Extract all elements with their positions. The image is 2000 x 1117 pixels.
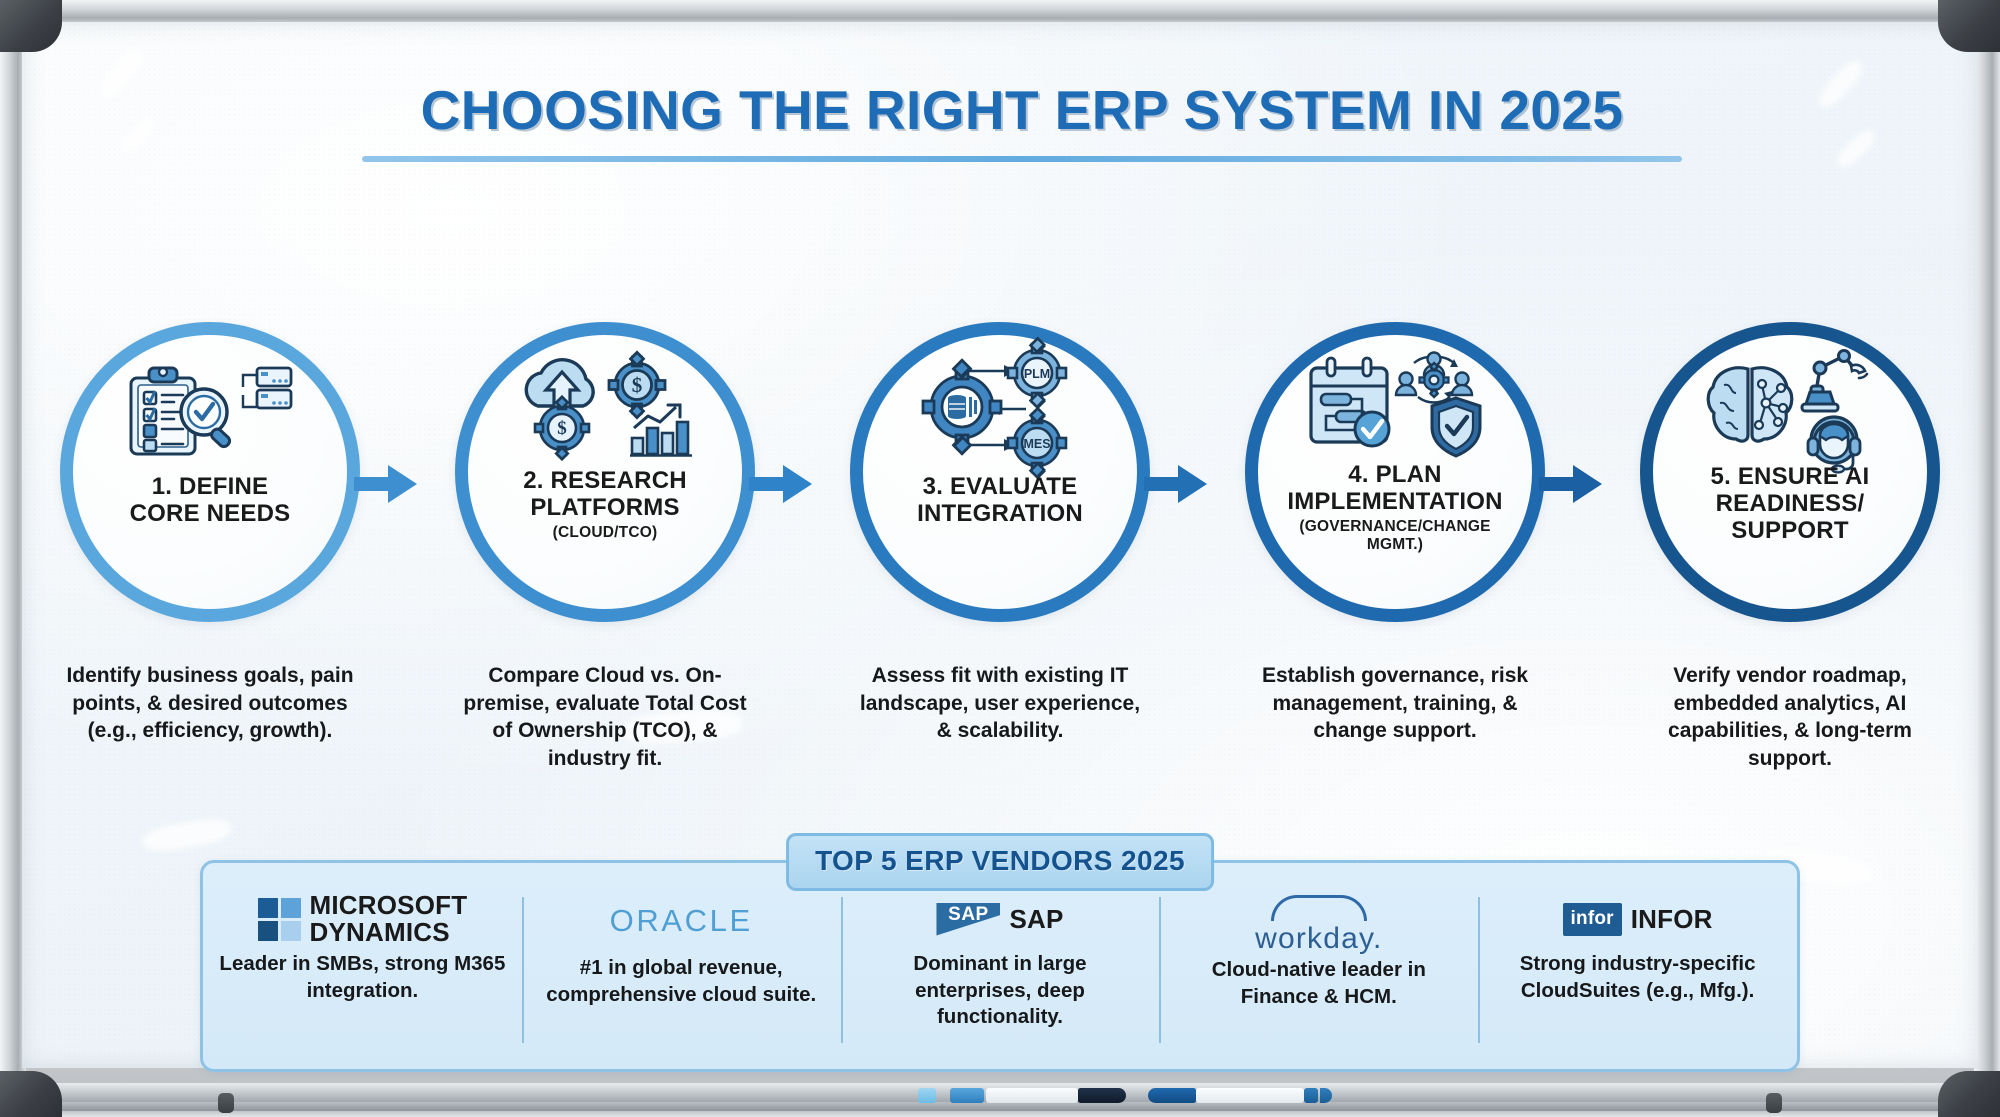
- calendar-workflow-check-icon: [1306, 356, 1398, 456]
- vendor-desc-microsoft: Leader in SMBs, strong M365 integration.: [219, 951, 506, 1004]
- step-3-label-line2: INTEGRATION: [917, 500, 1083, 527]
- vendor-workday[interactable]: workday. Cloud-native leader in Finance …: [1159, 891, 1478, 1063]
- marker-body-white-1[interactable]: [986, 1088, 1078, 1103]
- step-4-sublabel-line1: (GOVERNANCE/CHANGE: [1299, 518, 1490, 535]
- tray-stop-left: [218, 1093, 234, 1113]
- step-4[interactable]: 4. PLAN IMPLEMENTATION (GOVERNANCE/CHANG…: [1245, 322, 1545, 652]
- sap-logo: SAP SAP: [936, 895, 1063, 943]
- step-4-description: Establish governance, risk management, t…: [1245, 662, 1545, 773]
- step-2-circle[interactable]: $: [455, 322, 755, 622]
- marker-navy[interactable]: [1078, 1088, 1126, 1103]
- vendor-desc-workday: Cloud-native leader in Finance & HCM.: [1175, 957, 1462, 1010]
- vendor-name-line2: DYNAMICS: [310, 917, 450, 947]
- magnifier-check-icon: [175, 385, 243, 455]
- step-5-label-line3: SUPPORT: [1731, 517, 1848, 544]
- step-1-description: Identify business goals, pain points, & …: [60, 662, 360, 773]
- vendor-oracle[interactable]: ORACLE #1 in global revenue, comprehensi…: [522, 891, 841, 1063]
- step-5-circle[interactable]: 5. ENSURE AI READINESS/ SUPPORT: [1640, 322, 1940, 622]
- step-4-sublabel-group: (GOVERNANCE/CHANGE MGMT.): [1249, 518, 1541, 554]
- step-1-label: 1. DEFINE CORE NEEDS: [78, 474, 342, 528]
- marker-blue[interactable]: [1148, 1088, 1196, 1103]
- marker-cap-light-blue[interactable]: [918, 1088, 936, 1103]
- arrow-3-to-4: [1144, 464, 1208, 504]
- frame-corner-top-right: [1938, 0, 2000, 52]
- step-4-label-line1: 4. PLAN: [1348, 461, 1441, 488]
- workday-wordmark: workday.: [1255, 922, 1382, 956]
- step-2-sublabel: (CLOUD/TCO): [473, 524, 737, 542]
- step-5[interactable]: 5. ENSURE AI READINESS/ SUPPORT: [1640, 322, 1940, 652]
- microsoft-dynamics-logo: MICROSOFT DYNAMICS: [258, 895, 468, 943]
- vendor-panel-header: TOP 5 ERP VENDORS 2025: [786, 833, 1214, 891]
- step-4-label: 4. PLAN IMPLEMENTATION (GOVERNANCE/CHANG…: [1249, 462, 1541, 553]
- vendor-name-infor: INFOR: [1631, 906, 1713, 933]
- step-4-icon-row: [1245, 346, 1545, 466]
- arrow-1-to-2: [354, 464, 418, 504]
- step-1-label-line1: 1. DEFINE: [152, 473, 269, 500]
- vendor-desc-oracle: #1 in global revenue, comprehensive clou…: [538, 955, 825, 1008]
- integration-gears-group-icon: PLM: [920, 349, 1080, 467]
- step-1-circle[interactable]: 1. DEFINE CORE NEEDS: [60, 322, 360, 622]
- title-block: CHOOSING THE RIGHT ERP SYSTEM IN 2025: [22, 78, 2000, 162]
- workday-arc-icon: [1271, 895, 1367, 921]
- step-2-description: Compare Cloud vs. On-premise, evaluate T…: [455, 662, 755, 773]
- step-5-description: Verify vendor roadmap, embedded analytic…: [1640, 662, 1940, 773]
- ai-brain-icon: [1702, 363, 1798, 449]
- arrow-4-to-5: [1539, 464, 1603, 504]
- step-5-label-line1: 5. ENSURE AI: [1711, 463, 1870, 490]
- steps-row: 1. DEFINE CORE NEEDS: [60, 322, 1940, 652]
- step-3-icon-row: PLM: [850, 348, 1150, 468]
- title-underline: [362, 156, 1682, 162]
- step-1-icon-row: [60, 352, 360, 472]
- step-2-label-line1: 2. RESEARCH: [523, 467, 687, 494]
- svg-text:MES: MES: [1023, 437, 1050, 451]
- frame-corner-bottom-left: [0, 1071, 62, 1117]
- robot-arm-icon: [1802, 351, 1867, 412]
- whiteboard-frame: CHOOSING THE RIGHT ERP SYSTEM IN 2025: [0, 0, 2000, 1117]
- infor-badge-icon: infor: [1563, 903, 1622, 936]
- whiteboard-surface: CHOOSING THE RIGHT ERP SYSTEM IN 2025: [22, 22, 1978, 1068]
- step-5-label: 5. ENSURE AI READINESS/ SUPPORT: [1658, 464, 1922, 545]
- vendor-name-line1: MICROSOFT: [310, 890, 468, 920]
- microsoft-squares-icon: [258, 898, 301, 941]
- step-5-icon-row: [1640, 346, 1940, 466]
- vendor-grid: MICROSOFT DYNAMICS Leader in SMBs, stron…: [203, 891, 1797, 1063]
- workday-wordmark-wrap: workday.: [1255, 895, 1382, 956]
- frame-corner-bottom-right: [1938, 1071, 2000, 1117]
- vendor-infor[interactable]: infor INFOR Strong industry-specific Clo…: [1478, 891, 1797, 1063]
- vendor-name-sap: SAP: [1009, 906, 1063, 933]
- vendor-sap[interactable]: SAP SAP Dominant in large enterprises, d…: [841, 891, 1160, 1063]
- step-3-label: 3. EVALUATE INTEGRATION: [868, 474, 1132, 528]
- tray-stop-right: [1766, 1093, 1782, 1113]
- step-4-label-line2: IMPLEMENTATION: [1287, 488, 1502, 515]
- arrow-2-to-3: [749, 464, 813, 504]
- step-4-sublabel-line2: MGMT.): [1367, 536, 1423, 553]
- server-stack-icon: [239, 365, 295, 425]
- step-1[interactable]: 1. DEFINE CORE NEEDS: [60, 322, 360, 652]
- infor-logo: infor INFOR: [1563, 895, 1713, 943]
- bar-chart-growth-icon: [628, 402, 694, 460]
- vendor-desc-infor: Strong industry-specific CloudSuites (e.…: [1494, 951, 1781, 1004]
- vendor-microsoft-dynamics[interactable]: MICROSOFT DYNAMICS Leader in SMBs, stron…: [203, 891, 522, 1063]
- vendor-panel: TOP 5 ERP VENDORS 2025 MICROSOFT DYN: [200, 860, 1800, 1072]
- vendor-desc-sap: Dominant in large enterprises, deep func…: [857, 951, 1144, 1031]
- step-4-circle[interactable]: 4. PLAN IMPLEMENTATION (GOVERNANCE/CHANG…: [1245, 322, 1545, 622]
- vendor-name-microsoft: MICROSOFT DYNAMICS: [310, 892, 468, 945]
- sap-badge-icon: SAP: [936, 903, 1000, 936]
- shield-check-icon: [1428, 395, 1484, 459]
- step-3-description: Assess fit with existing IT landscape, u…: [850, 662, 1150, 773]
- oracle-wordmark: ORACLE: [610, 903, 753, 939]
- svg-text:PLM: PLM: [1024, 367, 1050, 381]
- svg-text:$: $: [632, 373, 643, 397]
- workday-logo: workday.: [1255, 895, 1382, 949]
- sap-badge-text: SAP: [948, 904, 989, 926]
- step-2-label: 2. RESEARCH PLATFORMS (CLOUD/TCO): [473, 468, 737, 542]
- step-2-icon-row: $: [455, 346, 755, 466]
- marker-tip-blue[interactable]: [1304, 1088, 1318, 1103]
- marker-light-blue[interactable]: [950, 1088, 984, 1103]
- descriptions-row: Identify business goals, pain points, & …: [60, 662, 1940, 773]
- marker-body-white-2[interactable]: [1196, 1088, 1304, 1103]
- step-2[interactable]: $: [455, 322, 755, 652]
- step-1-label-line2: CORE NEEDS: [130, 500, 291, 527]
- eraser-smudge: [140, 814, 233, 855]
- cloud-upload-cost-icon: $: [516, 354, 608, 458]
- step-3-label-line1: 3. EVALUATE: [923, 473, 1078, 500]
- svg-text:$: $: [557, 418, 567, 439]
- oracle-logo: ORACLE: [610, 895, 753, 947]
- step-3[interactable]: PLM: [850, 322, 1150, 652]
- step-3-circle[interactable]: PLM: [850, 322, 1150, 622]
- page-title: CHOOSING THE RIGHT ERP SYSTEM IN 2025: [22, 78, 2000, 142]
- robot-support-group-icon: [1798, 346, 1878, 466]
- marker-tray-lip: [0, 1102, 2000, 1111]
- step-5-label-line2: READINESS/: [1716, 490, 1865, 517]
- step-2-label-line2: PLATFORMS: [530, 494, 679, 521]
